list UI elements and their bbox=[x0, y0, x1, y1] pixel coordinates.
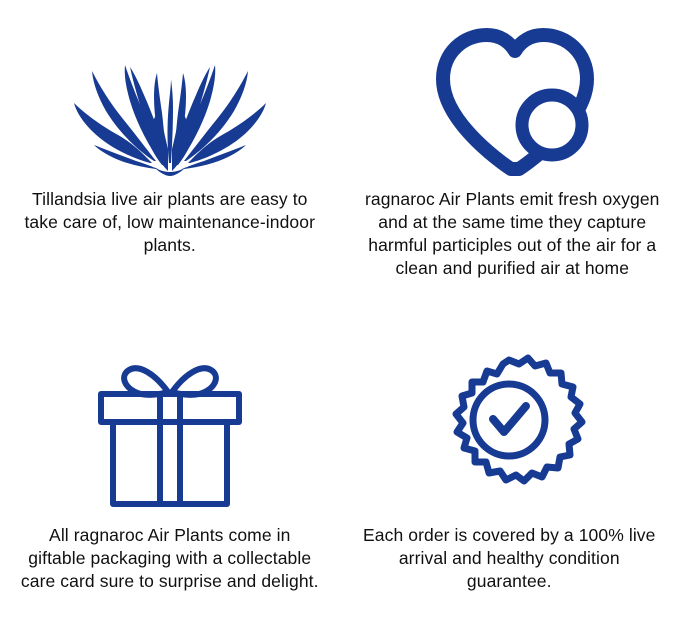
feature-card-gift: All ragnaroc Air Plants come in giftable… bbox=[0, 309, 340, 617]
gift-box-icon bbox=[20, 339, 320, 524]
feature-caption: All ragnaroc Air Plants come in giftable… bbox=[20, 524, 320, 593]
feature-grid: Tillandsia live air plants are easy to t… bbox=[0, 0, 679, 617]
feature-caption: ragnaroc Air Plants emit fresh oxygen an… bbox=[355, 188, 669, 280]
heart-plus-icon bbox=[354, 8, 672, 188]
feature-caption: Tillandsia live air plants are easy to t… bbox=[20, 188, 320, 257]
guarantee-badge-icon bbox=[354, 339, 666, 524]
feature-card-oxygen: ragnaroc Air Plants emit fresh oxygen an… bbox=[340, 0, 679, 309]
air-plant-icon bbox=[20, 8, 320, 188]
feature-card-guarantee: Each order is covered by a 100% live arr… bbox=[340, 309, 679, 617]
feature-card-air-plant: Tillandsia live air plants are easy to t… bbox=[0, 0, 340, 309]
feature-caption: Each order is covered by a 100% live arr… bbox=[359, 524, 659, 593]
